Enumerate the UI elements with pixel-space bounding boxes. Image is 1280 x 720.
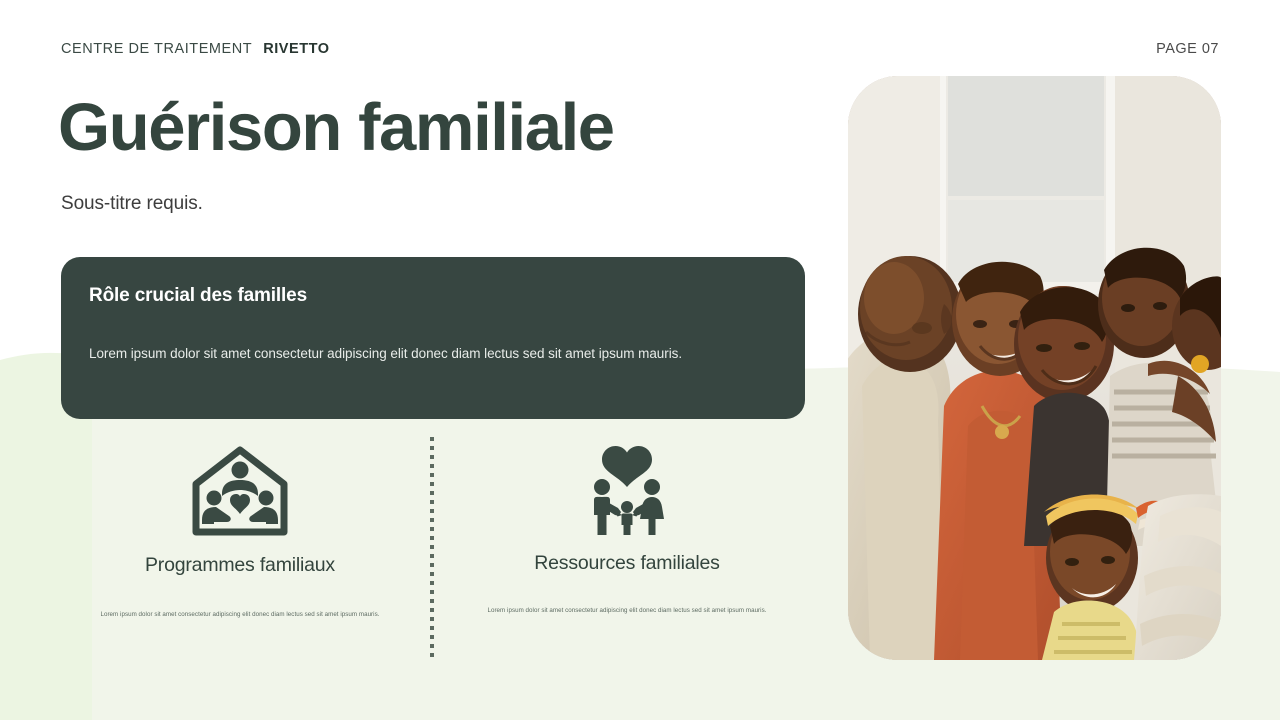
divider-dot	[430, 527, 434, 531]
divider-dot	[430, 563, 434, 567]
divider-dot	[430, 437, 434, 441]
divider-dot	[430, 536, 434, 540]
divider-dot	[430, 446, 434, 450]
page-subtitle: Sous-titre requis.	[61, 193, 203, 215]
feature-title-programmes: Programmes familiaux	[70, 554, 410, 577]
family-home-heart-icon	[70, 445, 410, 537]
highlight-card-title: Rôle crucial des familles	[89, 285, 307, 307]
page-title: Guérison familiale	[58, 88, 614, 168]
divider-dot	[430, 608, 434, 612]
divider-dot	[430, 455, 434, 459]
divider-dot	[430, 626, 434, 630]
feature-item-ressources: Ressources familiales Lorem ipsum dolor …	[457, 437, 797, 665]
vertical-dotted-divider	[430, 437, 434, 665]
divider-dot	[430, 482, 434, 486]
brand-name-label: RIVETTO	[263, 41, 329, 57]
divider-dot	[430, 617, 434, 621]
page-number-label: PAGE 07	[1156, 41, 1219, 57]
family-embrace-photo	[848, 76, 1221, 660]
divider-dot	[430, 473, 434, 477]
header-brand: CENTRE DE TRAITEMENT RIVETTO	[61, 41, 330, 57]
divider-dot	[430, 545, 434, 549]
divider-dot	[430, 518, 434, 522]
divider-dot	[430, 572, 434, 576]
divider-dot	[430, 635, 434, 639]
family-heart-icon	[457, 445, 797, 537]
divider-dot	[430, 554, 434, 558]
divider-dot	[430, 464, 434, 468]
divider-dot	[430, 509, 434, 513]
highlight-card-body: Lorem ipsum dolor sit amet consectetur a…	[89, 344, 777, 364]
feature-caption-ressources: Lorem ipsum dolor sit amet consectetur a…	[457, 606, 797, 616]
feature-caption-programmes: Lorem ipsum dolor sit amet consectetur a…	[70, 610, 410, 620]
slide-root: CENTRE DE TRAITEMENT RIVETTO PAGE 07 Gué…	[0, 0, 1280, 720]
divider-dot	[430, 500, 434, 504]
divider-dot	[430, 599, 434, 603]
divider-dot	[430, 644, 434, 648]
divider-dot	[430, 653, 434, 657]
feature-title-ressources: Ressources familiales	[457, 552, 797, 575]
feature-item-programmes: Programmes familiaux Lorem ipsum dolor s…	[70, 437, 410, 665]
divider-dot	[430, 491, 434, 495]
features-section: Programmes familiaux Lorem ipsum dolor s…	[61, 437, 805, 665]
brand-prefix-label: CENTRE DE TRAITEMENT	[61, 41, 252, 57]
divider-dot	[430, 590, 434, 594]
divider-dot	[430, 581, 434, 585]
highlight-card: Rôle crucial des familles Lorem ipsum do…	[61, 257, 805, 419]
